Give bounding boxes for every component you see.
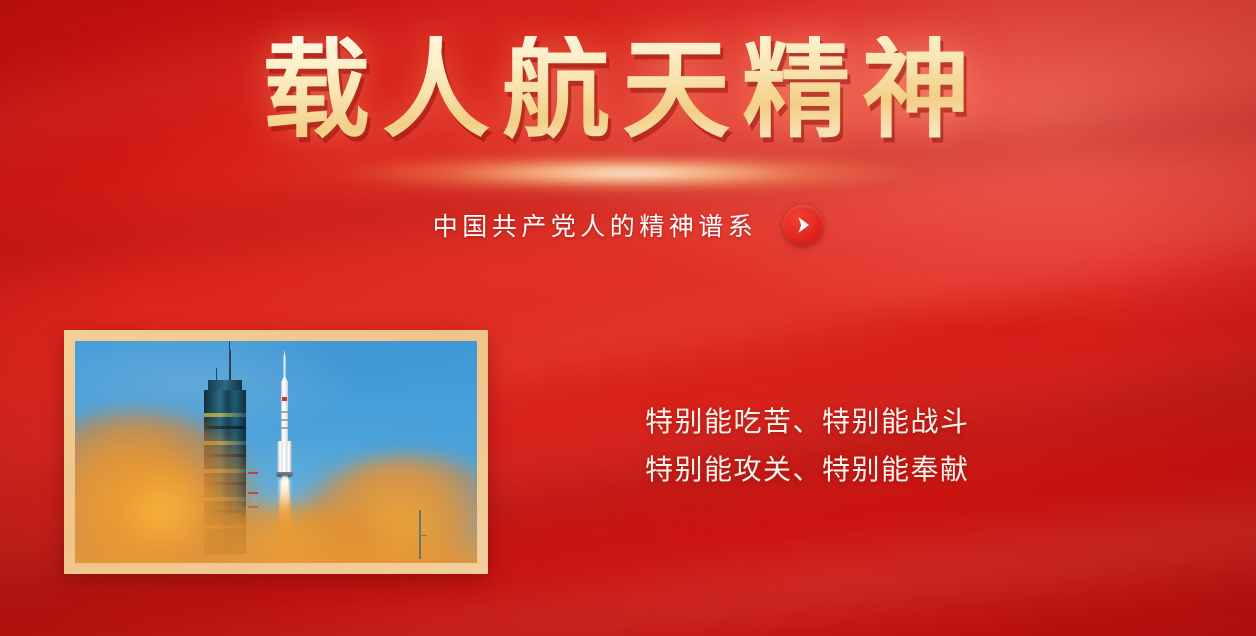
photo-frame: [64, 330, 488, 574]
slide-root: 载人航天精神 中国共产党人的精神谱系: [0, 0, 1256, 636]
slogan-line-1: 特别能吃苦、特别能战斗: [645, 398, 970, 446]
smoke-base-layer: [75, 532, 477, 563]
title-container: 载人航天精神: [0, 36, 1256, 144]
page-subtitle: 中国共产党人的精神谱系: [433, 207, 758, 243]
next-button[interactable]: [783, 205, 823, 245]
slogan-block: 特别能吃苦、特别能战斗 特别能攻关、特别能奉献: [645, 398, 970, 494]
rocket-launch-photo: [75, 341, 477, 563]
slogan-line-2: 特别能攻关、特别能奉献: [645, 446, 970, 494]
flag-marking: [282, 397, 287, 401]
chevron-right-icon: [792, 214, 814, 236]
page-title: 载人航天精神: [262, 36, 994, 144]
service-pole-crossbar: [421, 535, 427, 536]
service-pole: [419, 510, 421, 559]
subtitle-row: 中国共产党人的精神谱系: [0, 205, 1256, 245]
